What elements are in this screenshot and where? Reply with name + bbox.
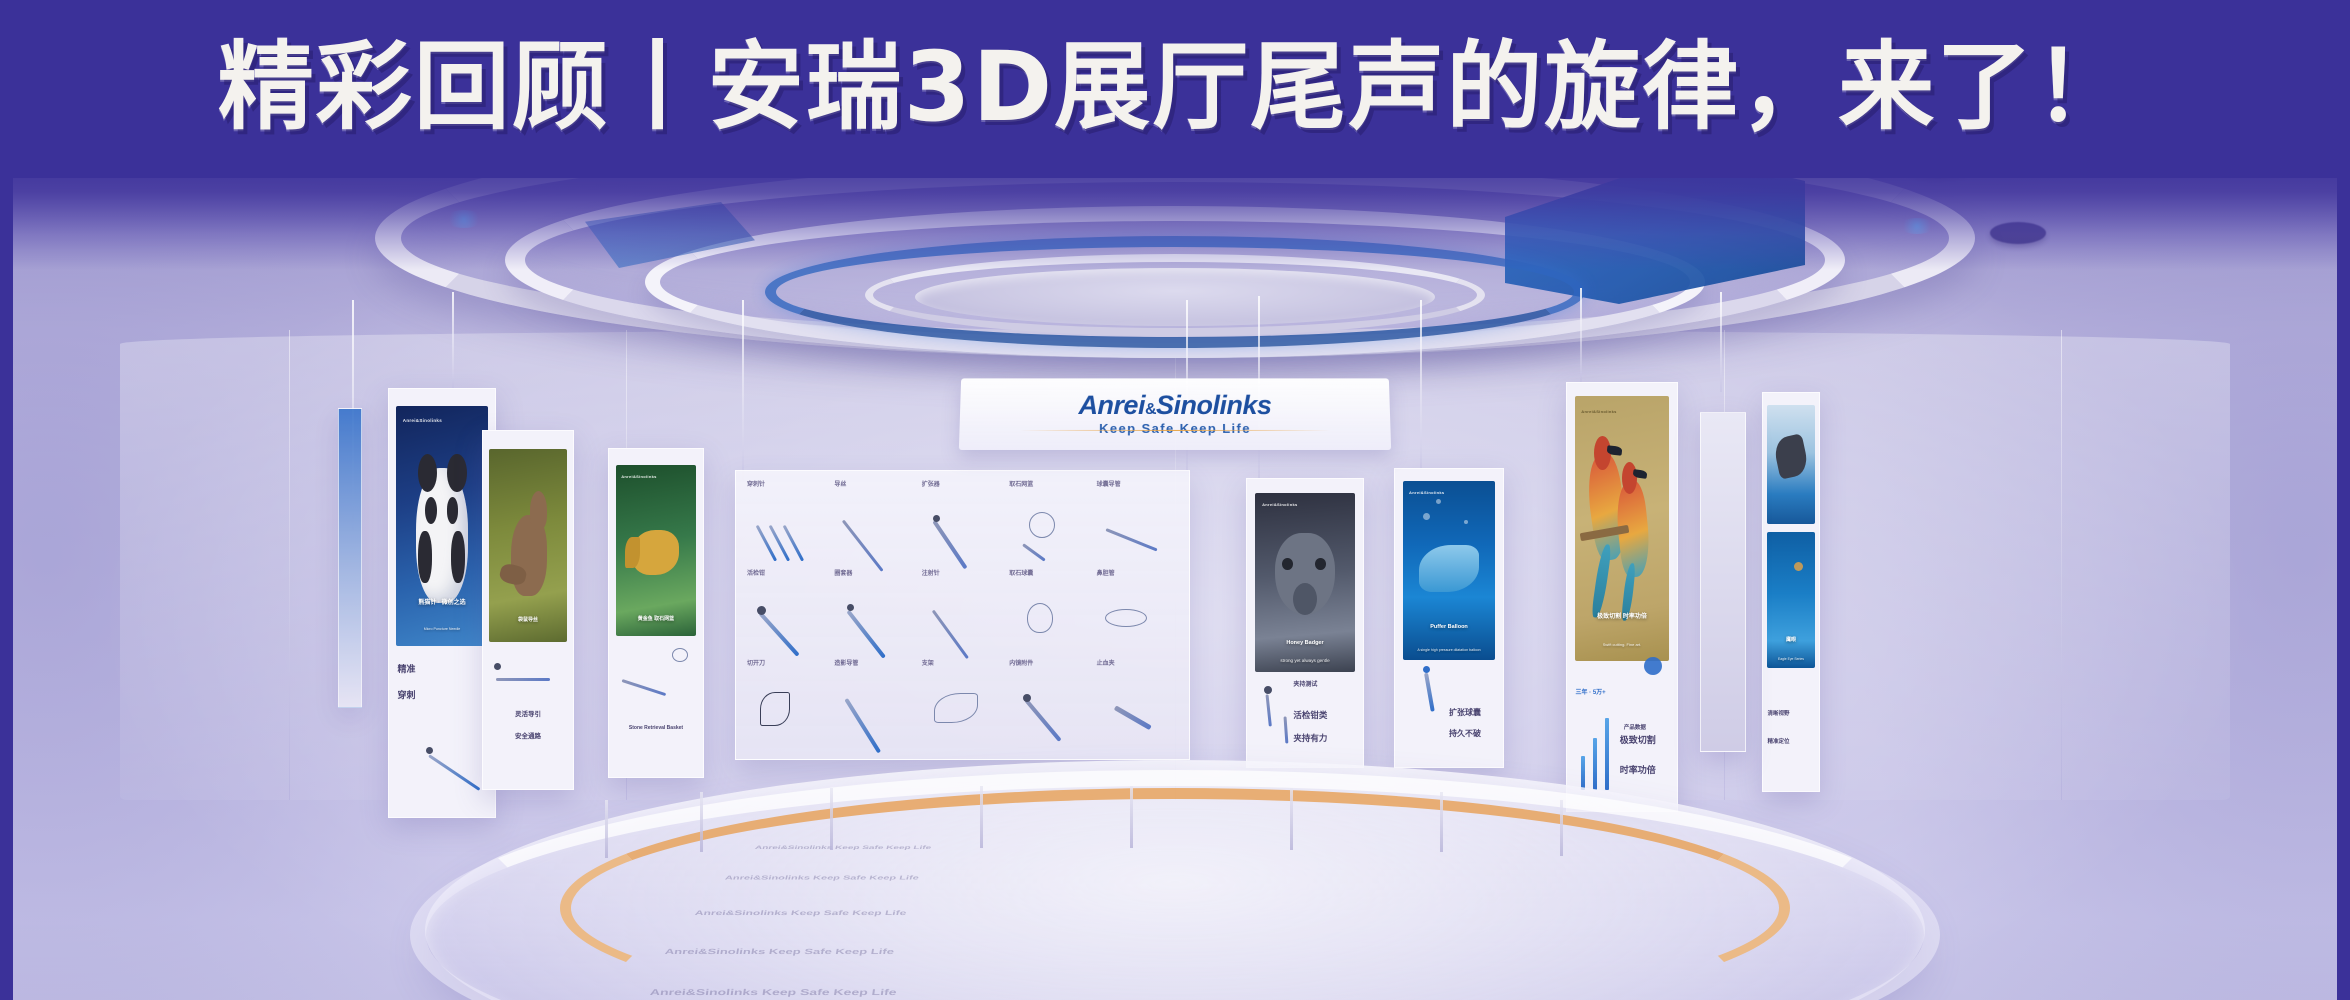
poster-subtitle: Eagle Eye Series: [1771, 657, 1812, 661]
panel-caption-line2: 穿刺: [397, 689, 486, 702]
brand-ampersand: &: [1145, 401, 1156, 418]
poster-title: 袋鼠导丝: [495, 617, 560, 623]
product-diagram: [753, 599, 821, 645]
panda-eye-icon: [447, 497, 459, 523]
exhibit-panel-fish[interactable]: Anrei&Sinolinks 黄金鱼 取石网篮 Stone Retrieval…: [608, 448, 704, 778]
exhibit-panel-puffer[interactable]: Anrei&Sinolinks Puffer Balloon A single …: [1394, 468, 1504, 768]
product-label: 支架: [922, 661, 934, 667]
bubble-decor: [1436, 499, 1441, 504]
ceiling-ring-core: [915, 268, 1435, 326]
exhibit-panel-honey-badger[interactable]: Anrei&Sinolinks Honey Badger strong yet …: [1246, 478, 1364, 768]
poster-title: 鹰眼: [1771, 637, 1812, 643]
panda-ear-icon: [447, 454, 466, 492]
product-label: 内镜附件: [1009, 661, 1033, 667]
product-label: 取石网篮: [1009, 482, 1033, 488]
left-edge-border: [0, 0, 13, 1000]
poster-title: 极致切割 时率功倍: [1582, 614, 1662, 622]
brand-mark-icon: [1644, 657, 1662, 675]
product-diagram-wire: [496, 653, 550, 703]
title-banner: 精彩回顾丨安瑞3D展厅尾声的旋律，来了！: [0, 0, 2350, 178]
panda-eye-icon: [425, 497, 437, 523]
product-diagram: [1015, 599, 1083, 645]
panel-caption-line2: 精准定位: [1767, 739, 1814, 747]
poster-subtitle: Swift cutting. Fine art.: [1582, 643, 1662, 648]
badger-snout-shape: [1293, 583, 1317, 615]
product-diagram-basket: [622, 652, 688, 704]
rail-post: [700, 792, 703, 852]
product-diagram: [928, 599, 996, 645]
rail-post: [830, 788, 833, 850]
page-title: 精彩回顾丨安瑞3D展厅尾声的旋律，来了！: [218, 39, 2132, 139]
product-label: 穿刺针: [747, 482, 765, 488]
product-cell[interactable]: 活检钳: [744, 570, 831, 659]
bird-tail-shape: [1590, 544, 1612, 619]
poster-fish: Anrei&Sinolinks 黄金鱼 取石网篮: [616, 465, 697, 636]
product-label: 导丝: [834, 482, 846, 488]
hanging-rod: [1720, 292, 1722, 392]
ceiling-spotlight: [1990, 222, 2046, 244]
product-diagram: [840, 599, 908, 645]
product-diagram: [1102, 688, 1170, 734]
product-label: 切开刀: [747, 661, 765, 667]
product-cell[interactable]: 圈套器: [831, 570, 918, 659]
product-label: 扩张器: [922, 482, 940, 488]
panel-caption-line2: 安全通路: [490, 732, 566, 741]
panel-caption-line1: 清晰视野: [1767, 711, 1814, 719]
product-diagram: [1102, 599, 1170, 645]
info-card-metric: 三年 · 5万+: [1576, 689, 1606, 697]
hanging-rod: [452, 292, 454, 392]
info-card-label: 产品数据: [1624, 725, 1646, 733]
info-card-badger-stats[interactable]: 夹持测试: [1293, 681, 1356, 707]
poster-subtitle: Micro Puncture Needle: [404, 627, 481, 631]
product-diagram-balloon-catheter: [1408, 666, 1447, 761]
product-cell[interactable]: 扩张器: [919, 481, 1006, 570]
product-cell[interactable]: 取石网篮: [1006, 481, 1093, 570]
rail-post: [605, 800, 608, 858]
poster-honey-badger: Anrei&Sinolinks Honey Badger strong yet …: [1255, 493, 1355, 672]
dolphin-shape: [1419, 545, 1478, 591]
exhibit-panel-right-strip[interactable]: [1700, 412, 1746, 752]
poster-title: 黄金鱼 取石网篮: [622, 616, 690, 622]
badger-eye-icon: [1282, 558, 1293, 570]
right-edge-border: [2337, 0, 2350, 1000]
product-diagram-forceps: [1273, 709, 1303, 767]
product-diagram: [753, 510, 821, 556]
brand-name-anrei: Anrei: [1078, 390, 1145, 420]
poster-wave: 鹰眼 Eagle Eye Series: [1767, 532, 1815, 667]
hanging-rod: [742, 300, 744, 480]
exhibit-panel-panda[interactable]: Anrei&Sinolinks 熊猫针 · 微创之选 Micro Punctur…: [388, 388, 496, 818]
poster-panda: Anrei&Sinolinks 熊猫针 · 微创之选 Micro Punctur…: [396, 406, 487, 646]
product-label: 取石球囊: [1009, 571, 1033, 577]
poster-title: 熊猫针 · 微创之选: [404, 600, 481, 608]
product-label: 造影导管: [834, 661, 858, 667]
product-cell[interactable]: 取石球囊: [1006, 570, 1093, 659]
product-cell[interactable]: 切开刀: [744, 660, 831, 749]
stat-bar: [1581, 756, 1585, 789]
panel-caption-line2: 持久不破: [1449, 728, 1494, 740]
product-cell[interactable]: 支架: [919, 660, 1006, 749]
product-diagram: [1015, 510, 1083, 556]
product-matrix-wall[interactable]: 穿刺针 导丝 扩张器 取石网: [735, 470, 1190, 760]
showroom-screenshot: Anrei&Sinolinks 熊猫针 · 微创之选 Micro Punctur…: [0, 0, 2350, 1000]
product-cell[interactable]: 球囊导管: [1094, 481, 1181, 570]
product-label: 注射针: [922, 571, 940, 577]
poster-title: Honey Badger: [1263, 640, 1347, 647]
rail-post: [1440, 792, 1443, 852]
exhibit-panel-kangaroo[interactable]: 袋鼠导丝 灵活导引 安全通路: [482, 430, 574, 790]
ceiling-glow: [1899, 218, 1935, 234]
panel-caption-line1: 扩张球囊: [1449, 707, 1494, 719]
rail-post: [1290, 788, 1293, 850]
brand-logo-text: Anrei&Sinolinks: [1078, 392, 1271, 419]
product-diagram: [1102, 510, 1170, 556]
panel-caption-line1: 极致切割: [1620, 734, 1668, 747]
product-diagram: [753, 688, 821, 734]
rail-post: [1130, 786, 1133, 848]
panda-arm-shape: [451, 531, 465, 584]
bubble-decor: [1423, 513, 1430, 520]
product-cell[interactable]: 穿刺针: [744, 481, 831, 570]
eagle-body-shape: [1772, 433, 1810, 479]
info-card-label: 夹持测试: [1293, 681, 1317, 689]
product-diagram: [840, 688, 908, 734]
poster-title: Puffer Balloon: [1410, 624, 1488, 631]
bird-tail-shape: [1621, 563, 1637, 622]
product-diagram: [928, 510, 996, 556]
stat-bar: [1605, 718, 1609, 790]
badger-eye-icon: [1315, 558, 1326, 570]
exhibit-panel-bird[interactable]: Anrei&Sinolinks 极致切割 时率功倍 Swift cutting.…: [1566, 382, 1678, 812]
logo-underline: [1020, 429, 1330, 430]
poster-brand: Anrei&Sinolinks: [621, 474, 656, 479]
panel-caption-line1: 精准: [397, 663, 486, 676]
product-label: 鼻胆管: [1097, 571, 1115, 577]
product-label: 止血夹: [1097, 661, 1115, 667]
product-cell[interactable]: 止血夹: [1094, 660, 1181, 749]
product-diagram: [1015, 688, 1083, 734]
panel-caption-product: Stone Retrieval Basket: [617, 725, 696, 732]
poster-brand: Anrei&Sinolinks: [1262, 502, 1297, 507]
hanging-rod: [1420, 300, 1422, 475]
bubble-decor: [1464, 520, 1468, 524]
product-cell[interactable]: 鼻胆管: [1094, 570, 1181, 659]
poster-bee-eater: Anrei&Sinolinks 极致切割 时率功倍 Swift cutting.…: [1575, 396, 1670, 661]
product-diagram: [840, 510, 908, 556]
product-label: 球囊导管: [1097, 482, 1121, 488]
product-cell[interactable]: 内镜附件: [1006, 660, 1093, 749]
poster-subtitle: strong yet always gentle: [1263, 658, 1347, 664]
brand-name-sinolinks: Sinolinks: [1156, 390, 1272, 420]
product-cell[interactable]: 导丝: [831, 481, 918, 570]
ceiling-glow: [445, 210, 483, 228]
hanging-rod: [1580, 288, 1582, 384]
poster-brand: Anrei&Sinolinks: [403, 418, 442, 423]
product-cell[interactable]: 注射针: [919, 570, 1006, 659]
product-label: 圈套器: [834, 571, 852, 577]
poster-subtitle: A single high pressure dilatation balloo…: [1410, 648, 1488, 652]
rail-post: [980, 786, 983, 848]
panda-arm-shape: [418, 531, 432, 584]
panel-caption-line1: 灵活导引: [490, 710, 566, 719]
rail-post: [1560, 800, 1563, 856]
bird-head-shape: [1622, 462, 1637, 494]
poster-brand: Anrei&Sinolinks: [1581, 409, 1616, 414]
panel-caption-line2: 时率功倍: [1620, 764, 1668, 777]
poster-puffer-balloon: Anrei&Sinolinks Puffer Balloon A single …: [1403, 481, 1496, 660]
poster-kangaroo: 袋鼠导丝: [489, 449, 566, 642]
bubble-decor: [1794, 562, 1803, 571]
stat-bar: [1593, 738, 1597, 789]
kangaroo-head-shape: [530, 491, 547, 530]
fish-fin-shape: [625, 537, 640, 568]
brand-logo-sign: Anrei&Sinolinks Keep Safe Keep Life: [959, 378, 1391, 450]
poster-eagle: [1767, 405, 1815, 524]
exhibit-panel-left-strip[interactable]: [338, 408, 362, 708]
poster-brand: Anrei&Sinolinks: [1409, 490, 1444, 495]
product-label: 活检钳: [747, 571, 765, 577]
product-cell[interactable]: 造影导管: [831, 660, 918, 749]
product-diagram: [928, 688, 996, 734]
exhibit-panel-eagle[interactable]: 鹰眼 Eagle Eye Series 清晰视野 精准定位: [1762, 392, 1820, 792]
